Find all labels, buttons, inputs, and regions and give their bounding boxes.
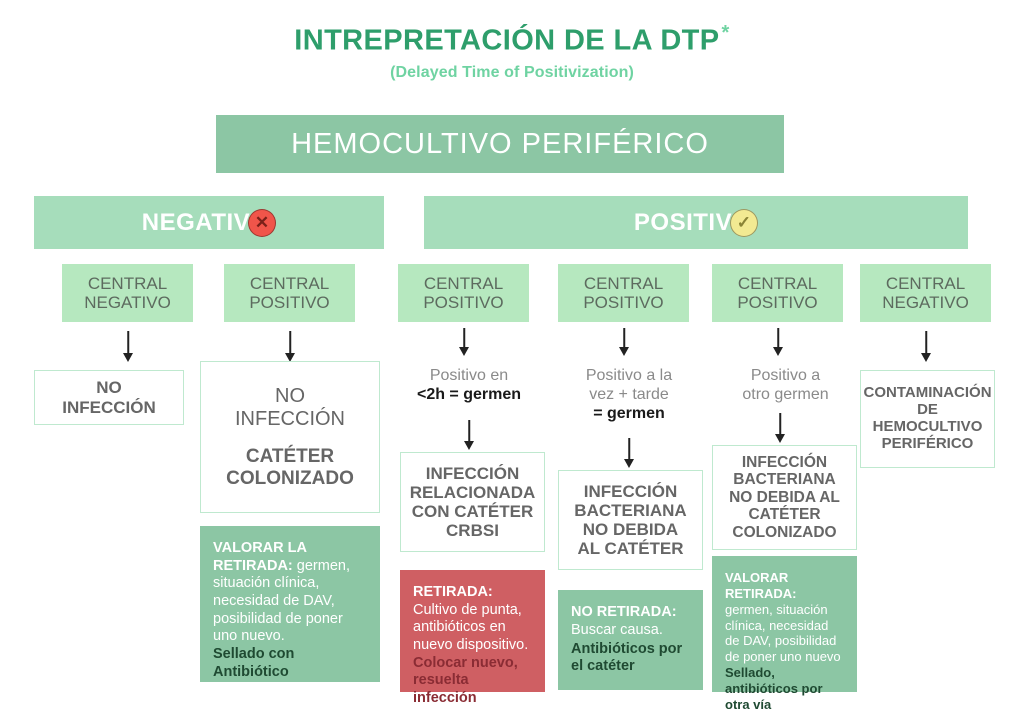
- outcome-cateter-colonizado-col2: NOINFECCIÓN CATÉTERCOLONIZADO: [200, 361, 380, 513]
- central-box-2: CENTRALPOSITIVO: [224, 264, 355, 322]
- note-col4-body: Buscar causa.: [571, 622, 663, 638]
- caption-col4: Positivo a la vez + tarde = germen: [554, 366, 704, 424]
- central-box-6-line2: NEGATIVO: [882, 293, 969, 312]
- note-col4-footer: Antibióticos por el catéter: [571, 641, 690, 676]
- central-box-4-line2: POSITIVO: [583, 293, 663, 312]
- flowchart-page: INTREPRETACIÓN DE LA DTP* (Delayed Time …: [0, 0, 1024, 722]
- x-circle-icon: ✕: [248, 209, 276, 237]
- arrow-down-col1: [118, 331, 138, 362]
- outcome-crbsi-col3: INFECCIÓN RELACIONADA CON CATÉTER CRBSI: [400, 452, 545, 552]
- outcome-col5-line2: BACTERIANA: [733, 471, 835, 488]
- outcome-col3-line3: CON CATÉTER: [412, 502, 534, 521]
- note-col5-body: germen, situación clínica, necesidad de …: [725, 602, 841, 665]
- title-block: INTREPRETACIÓN DE LA DTP* (Delayed Time …: [0, 22, 1024, 82]
- outcome-col2-bold-line2: COLONIZADO: [226, 468, 354, 489]
- outcome-col4-line3: NO DEBIDA: [583, 520, 678, 539]
- arrow-down-col3: [454, 328, 474, 356]
- outcome-col3-line4: CRBSI: [446, 521, 499, 540]
- outcome-col5-line1: INFECCIÓN: [742, 454, 827, 471]
- outcome-col6-line3: HEMOCULTIVO: [873, 418, 983, 435]
- central-box-1-line1: CENTRAL: [88, 274, 167, 293]
- caption-col3: Positivo en <2h = germen: [394, 366, 544, 404]
- branch-negativo-label: NEGATIV✕: [142, 209, 276, 237]
- central-box-3: CENTRALPOSITIVO: [398, 264, 529, 322]
- branch-positivo-label: POSITIV✓: [634, 209, 758, 237]
- caption-col4-plain-line1: Positivo a la: [586, 367, 672, 384]
- page-title: INTREPRETACIÓN DE LA DTP*: [294, 22, 729, 58]
- branch-positivo: POSITIV✓: [424, 196, 968, 249]
- outcome-col5-line3: NO DEBIDA AL: [729, 489, 840, 506]
- caption-col5-plain-line2: otro germen: [742, 386, 828, 403]
- central-box-2-line1: CENTRAL: [250, 274, 329, 293]
- branch-positivo-text: POSITIV: [634, 209, 732, 237]
- caption-col5-plain-line1: Positivo a: [751, 367, 820, 384]
- note-col2-footer: Sellado con Antibiótico: [213, 646, 367, 681]
- page-subtitle: (Delayed Time of Positivization): [0, 64, 1024, 82]
- caption-col4-plain-line2: vez + tarde: [589, 386, 669, 403]
- outcome-col6-line1: CONTAMINACIÓN: [863, 384, 991, 401]
- branch-negativo: NEGATIV✕: [34, 196, 384, 249]
- header-hemocultivo-periferico: HEMOCULTIVO PERIFÉRICO: [216, 115, 784, 173]
- arrow-down-col4-b: [619, 438, 639, 468]
- outcome-col4-line1: INFECCIÓN: [584, 482, 678, 501]
- note-valorar-retirada-col5: VALORAR RETIRADA: germen, situación clín…: [712, 556, 857, 692]
- central-box-2-line2: POSITIVO: [249, 293, 329, 312]
- note-col4-head: NO RETIRADA:: [571, 604, 677, 620]
- note-col5-head-line2: RETIRADA:: [725, 586, 797, 601]
- central-box-5: CENTRALPOSITIVO: [712, 264, 843, 322]
- outcome-col6-line2: DE: [917, 401, 938, 418]
- outcome-colonizado-col5: INFECCIÓN BACTERIANA NO DEBIDA AL CATÉTE…: [712, 445, 857, 550]
- central-box-5-line1: CENTRAL: [738, 274, 817, 293]
- caption-col3-strong: <2h = germen: [417, 386, 521, 403]
- page-title-text: INTREPRETACIÓN DE LA DTP: [294, 25, 719, 57]
- central-box-5-line2: POSITIVO: [737, 293, 817, 312]
- central-box-6: CENTRALNEGATIVO: [860, 264, 991, 322]
- footnote-asterisk: *: [722, 22, 730, 44]
- central-box-6-line1: CENTRAL: [886, 274, 965, 293]
- caption-col3-plain: Positivo en: [430, 367, 508, 384]
- note-valorar-retirada-col2: VALORAR LA RETIRADA: germen, situación c…: [200, 526, 380, 682]
- check-circle-icon: ✓: [730, 209, 758, 237]
- outcome-contaminacion-col6: CONTAMINACIÓN DE HEMOCULTIVO PERIFÉRICO: [860, 370, 995, 468]
- note-retirada-col3: RETIRADA:Cultivo de punta, antibióticos …: [400, 570, 545, 692]
- outcome-col1-line2: INFECCIÓN: [62, 398, 156, 417]
- central-box-3-line2: POSITIVO: [423, 293, 503, 312]
- outcome-col6-line4: PERIFÉRICO: [882, 435, 974, 452]
- outcome-col1-line1: NO: [96, 378, 122, 397]
- central-box-1: CENTRALNEGATIVO: [62, 264, 193, 322]
- arrow-down-col6: [916, 331, 936, 362]
- caption-col4-strong: = germen: [593, 405, 665, 422]
- arrow-down-col3-b: [459, 420, 479, 450]
- outcome-col5-line4: CATÉTER: [748, 506, 820, 523]
- outcome-col3-line1: INFECCIÓN: [426, 464, 520, 483]
- central-box-3-line1: CENTRAL: [424, 274, 503, 293]
- outcome-col3-line2: RELACIONADA: [410, 483, 536, 502]
- note-col5-footer: Sellado, antibióticos por otra vía: [725, 665, 844, 713]
- arrow-down-col4: [614, 328, 634, 356]
- outcome-col5-line5: COLONIZADO: [732, 524, 836, 541]
- outcome-infeccion-no-cateter-col4: INFECCIÓN BACTERIANA NO DEBIDA AL CATÉTE…: [558, 470, 703, 570]
- outcome-col4-line4: AL CATÉTER: [577, 539, 683, 558]
- outcome-col2-light-line2: INFECCIÓN: [235, 408, 345, 430]
- central-box-4: CENTRALPOSITIVO: [558, 264, 689, 322]
- outcome-col4-line2: BACTERIANA: [574, 501, 686, 520]
- caption-col5: Positivo a otro germen: [708, 366, 863, 404]
- outcome-col2-light-line1: NO: [275, 385, 305, 407]
- arrow-down-col5: [768, 328, 788, 356]
- branch-negativo-text: NEGATIV: [142, 209, 250, 237]
- note-col5-head-line1: VALORAR: [725, 570, 788, 585]
- central-box-4-line1: CENTRAL: [584, 274, 663, 293]
- arrow-down-col2: [280, 331, 300, 362]
- note-col3-body: Cultivo de punta, antibióticos en nuevo …: [413, 602, 528, 653]
- note-col3-head: RETIRADA:: [413, 584, 493, 600]
- outcome-col2-bold-line1: CATÉTER: [246, 446, 334, 467]
- note-no-retirada-col4: NO RETIRADA:Buscar causa. Antibióticos p…: [558, 590, 703, 690]
- outcome-no-infeccion-col1: NOINFECCIÓN: [34, 370, 184, 425]
- arrow-down-col5-b: [770, 413, 790, 443]
- note-col3-footer: Colocar nuevo, resuelta infección: [413, 655, 532, 708]
- central-box-1-line2: NEGATIVO: [84, 293, 171, 312]
